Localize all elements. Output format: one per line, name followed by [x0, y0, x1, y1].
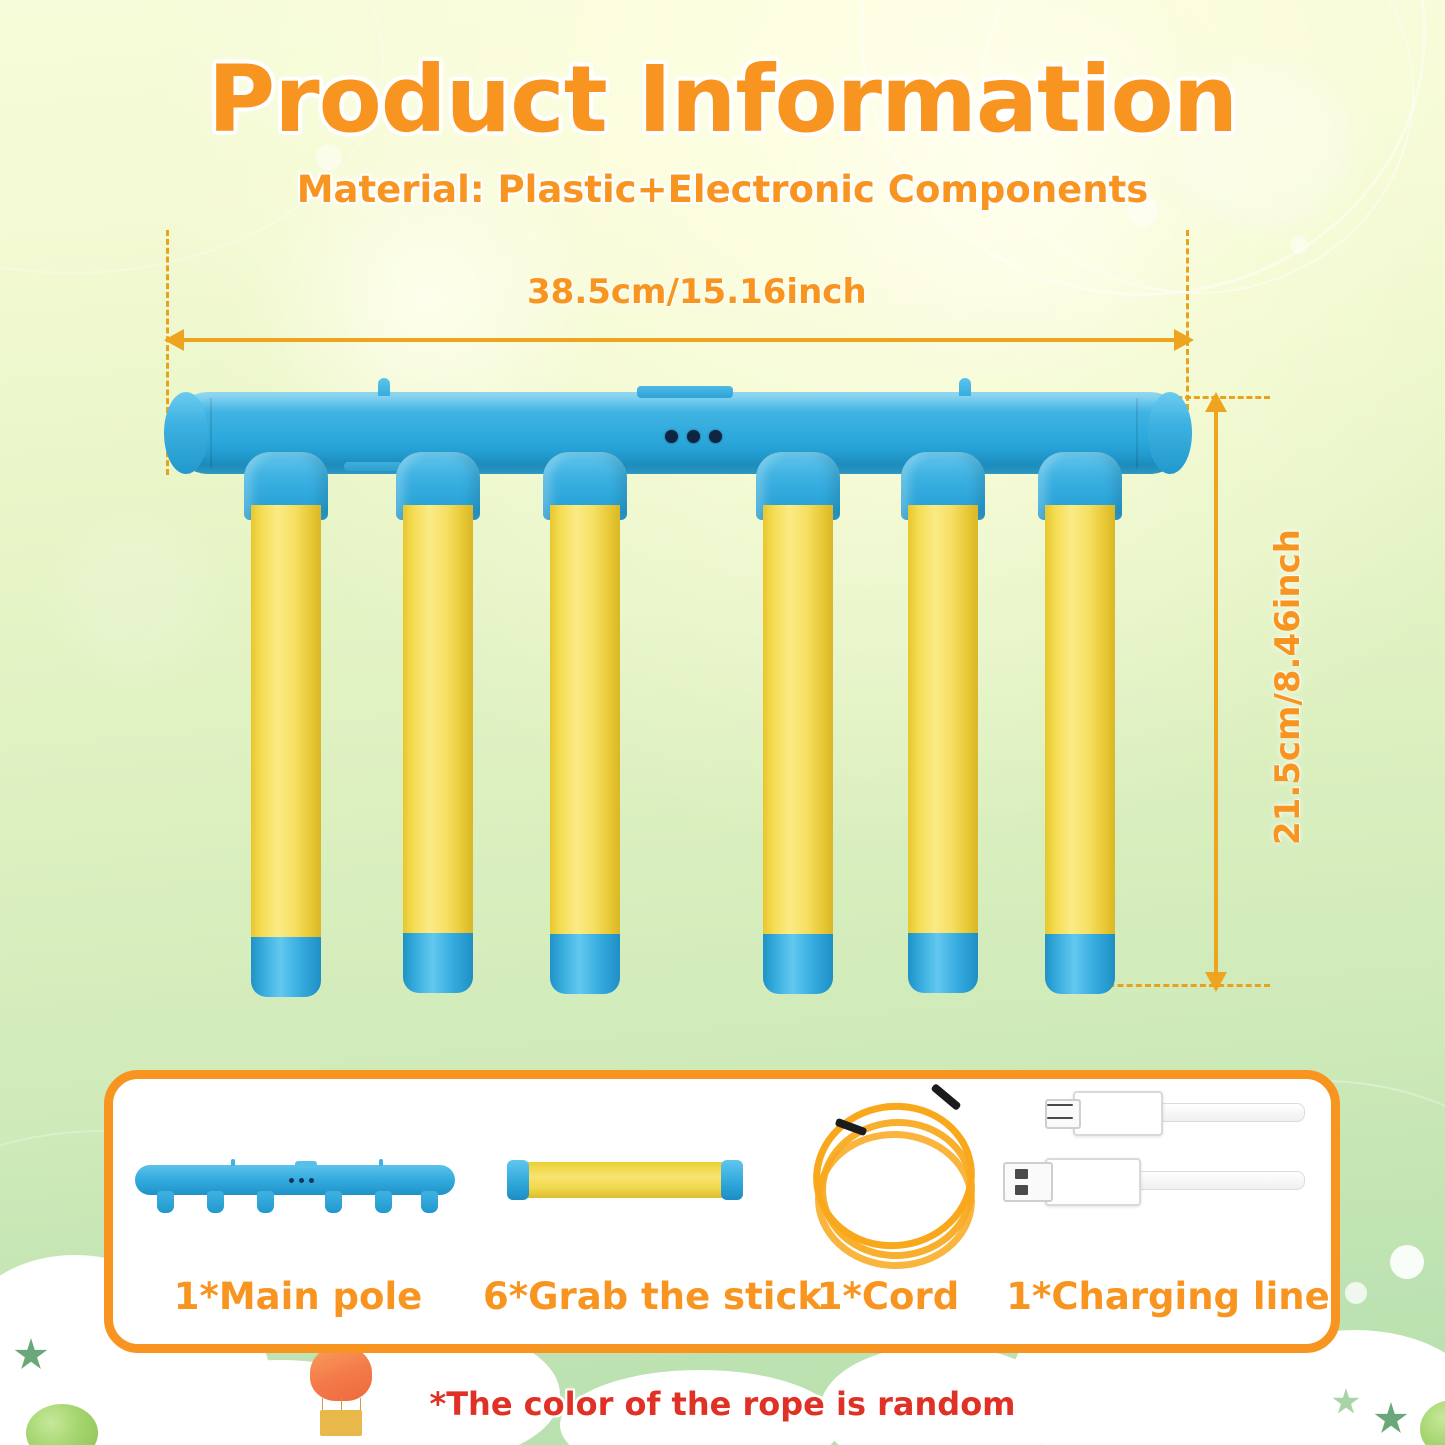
page-title: Product Information [0, 46, 1445, 153]
product-information-page: Product Information Material: Plastic+El… [0, 0, 1445, 1445]
material-subtitle: Material: Plastic+Electronic Components [0, 168, 1445, 211]
arrow-head-left [164, 329, 184, 351]
arrow-head-down [1205, 972, 1227, 992]
part-label-cord: 1*Cord [793, 1275, 983, 1318]
rope-color-note: *The color of the rope is random [0, 1385, 1445, 1423]
arrow-head-up [1205, 392, 1227, 412]
part-label-charging-line: 1*Charging line [1003, 1275, 1333, 1318]
part-label-grab-stick: 6*Grab the stick [483, 1275, 773, 1318]
part-label-main-pole: 1*Main pole [133, 1275, 463, 1318]
width-dimension-label: 38.5cm/15.16inch [527, 272, 867, 312]
parts-list-box: 1*Main pole 6*Grab the stick 1*Cord [104, 1070, 1340, 1353]
height-dimension-label: 21.5cm/8.46inch [1268, 529, 1308, 845]
arrow-head-right [1174, 329, 1194, 351]
